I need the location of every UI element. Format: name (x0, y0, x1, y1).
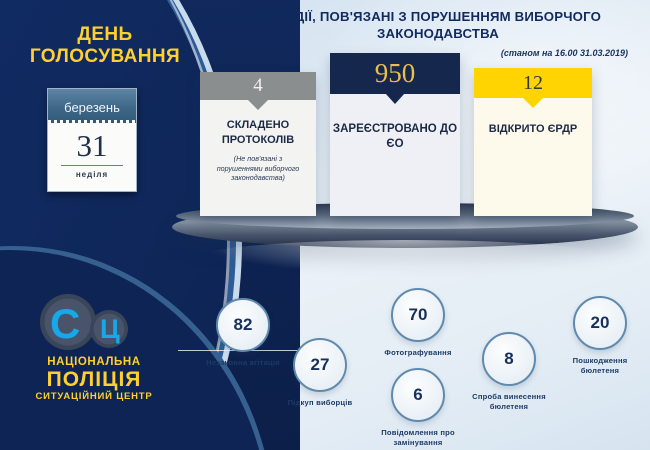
stat-bubble-bomb-threat-label: Повідомлення про замінування (372, 428, 464, 448)
logo-letter-ts: Ц (100, 314, 120, 345)
stat-bubble-ballot-damage: 20 Пошкодження бюлетеня (556, 296, 644, 376)
stat-bubble-photography: 70 Фотографування (372, 288, 464, 358)
stat-bubble-photography-label: Фотографування (372, 348, 464, 358)
stat-card-protocols-label: СКЛАДЕНО ПРОТОКОЛІВ (200, 118, 316, 148)
infographic-root: ДЕНЬ ГОЛОСУВАННЯ березень 31 неділя С Ц … (0, 0, 650, 450)
logo-line-police: ПОЛІЦІЯ (14, 368, 174, 391)
stat-card-erdr: 12 ВІДКРИТО ЄРДР (474, 68, 592, 216)
stat-bubble-bomb-threat: 6 Повідомлення про замінування (372, 368, 464, 448)
stat-bubble-bribery-label: Підкуп виборців (274, 398, 366, 408)
stat-card-protocols-value: 4 (200, 72, 316, 100)
calendar-divider (61, 165, 123, 166)
voting-day-title: ДЕНЬ ГОЛОСУВАННЯ (10, 24, 200, 68)
stat-bubble-ballot-removal-value: 8 (482, 332, 536, 386)
card-notch-icon (523, 98, 543, 108)
calendar-weekday: неділя (48, 170, 136, 179)
stat-bubble-bribery-value: 27 (293, 338, 347, 392)
logo-line-center: СИТУАЦІЙНИЙ ЦЕНТР (14, 391, 174, 402)
page-title: ПОДІЇ, ПОВ'ЯЗАНІ З ПОРУШЕННЯМ ВИБОРЧОГО … (236, 8, 640, 42)
logo-line-national: НАЦІОНАЛЬНА (14, 356, 174, 368)
stat-card-registered: 950 ЗАРЕЄСТРОВАНО ДО ЄО (330, 53, 460, 216)
stat-card-registered-label: ЗАРЕЄСТРОВАНО ДО ЄО (330, 122, 460, 152)
stat-bubble-bomb-threat-value: 6 (391, 368, 445, 422)
stat-card-protocols: 4 СКЛАДЕНО ПРОТОКОЛІВ (Не пов'язані з по… (200, 72, 316, 216)
calendar-widget: березень 31 неділя (47, 88, 137, 192)
stat-bubble-photography-value: 70 (391, 288, 445, 342)
stat-card-erdr-value: 12 (474, 68, 592, 98)
stat-bubble-ballot-damage-value: 20 (573, 296, 627, 350)
stat-bubble-bribery: 27 Підкуп виборців (274, 338, 366, 408)
podium-reflection (200, 240, 610, 274)
stat-bubble-agitation-value: 82 (216, 298, 270, 352)
logo-letter-s: С (50, 300, 80, 348)
card-notch-icon (385, 93, 405, 104)
stat-bubble-ballot-damage-label: Пошкодження бюлетеня (556, 356, 644, 376)
calendar-month: березень (48, 89, 136, 123)
stat-bubble-ballot-removal: 8 Спроба винесення бюлетеня (461, 332, 557, 412)
logo-gears-icon: С Ц (14, 292, 174, 354)
stat-card-registered-value: 950 (330, 53, 460, 94)
stat-card-protocols-note: (Не пов'язані з порушеннями виборчого за… (200, 154, 316, 183)
card-notch-icon (248, 100, 268, 110)
stat-card-erdr-label: ВІДКРИТО ЄРДР (474, 122, 592, 137)
police-logo: С Ц НАЦІОНАЛЬНА ПОЛІЦІЯ СИТУАЦІЙНИЙ ЦЕНТ… (14, 292, 174, 402)
calendar-day-number: 31 (48, 123, 136, 164)
stat-bubble-ballot-removal-label: Спроба винесення бюлетеня (461, 392, 557, 412)
stat-card-protocols-body: СКЛАДЕНО ПРОТОКОЛІВ (Не пов'язані з пору… (200, 100, 316, 183)
